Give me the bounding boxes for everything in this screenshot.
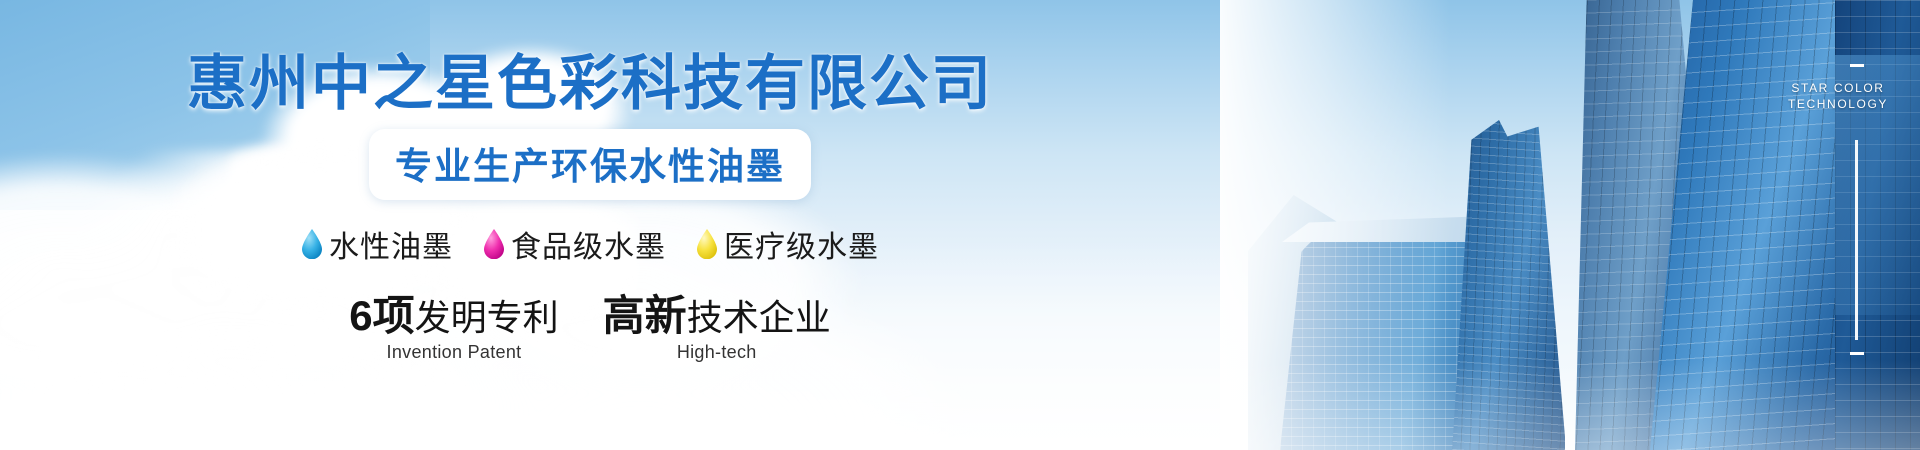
sign-tick-top: [1850, 64, 1864, 67]
badge-cn-1: 高新技术企业: [603, 294, 831, 338]
building-sign-line1: STAR COLOR: [1788, 80, 1888, 96]
feature-label-2: 医疗级水墨: [724, 222, 879, 266]
feature-item-0: 水性油墨: [301, 222, 453, 266]
water-drop-icon: [696, 229, 718, 259]
subtitle-pill: 专业生产环保水性油墨: [369, 129, 811, 200]
feature-label-1: 食品级水墨: [511, 222, 666, 266]
credential-badges: 6项发明专利 Invention Patent 高新技术企业 High-tech: [349, 294, 830, 363]
badge-cn-rest-0: 发明专利: [415, 297, 559, 338]
sign-vertical-rule: [1855, 140, 1858, 340]
sign-tick-bottom: [1850, 352, 1864, 355]
promo-banner: Star Color STAR COLOR TECHNOLOGY 惠州中之星色彩…: [0, 0, 1920, 450]
feature-label-0: 水性油墨: [329, 222, 453, 266]
water-drop-icon: [301, 229, 323, 259]
feature-item-1: 食品级水墨: [483, 222, 666, 266]
badge-number-0: 6项: [349, 292, 414, 339]
badge-high-tech: 高新技术企业 High-tech: [603, 294, 831, 363]
company-title: 惠州中之星色彩科技有限公司: [187, 52, 993, 115]
badge-cn-0: 6项发明专利: [349, 294, 558, 338]
building-signage: STAR COLOR TECHNOLOGY: [1788, 80, 1888, 112]
badge-invention-patent: 6项发明专利 Invention Patent: [349, 294, 558, 363]
feature-item-2: 医疗级水墨: [696, 222, 879, 266]
badge-cn-rest-1: 技术企业: [687, 297, 831, 338]
cityscape: STAR COLOR TECHNOLOGY: [1220, 0, 1920, 450]
city-bottom-haze: [1220, 360, 1920, 450]
badge-en-1: High-tech: [603, 342, 831, 363]
feature-list: 水性油墨 食品级水墨 医疗级水墨: [301, 222, 879, 266]
badge-number-1: 高新: [603, 292, 687, 339]
building-sign-line2: TECHNOLOGY: [1788, 96, 1888, 112]
banner-content: 惠州中之星色彩科技有限公司 专业生产环保水性油墨 水性油墨: [0, 0, 1180, 450]
badge-en-0: Invention Patent: [349, 342, 558, 363]
water-drop-icon: [483, 229, 505, 259]
